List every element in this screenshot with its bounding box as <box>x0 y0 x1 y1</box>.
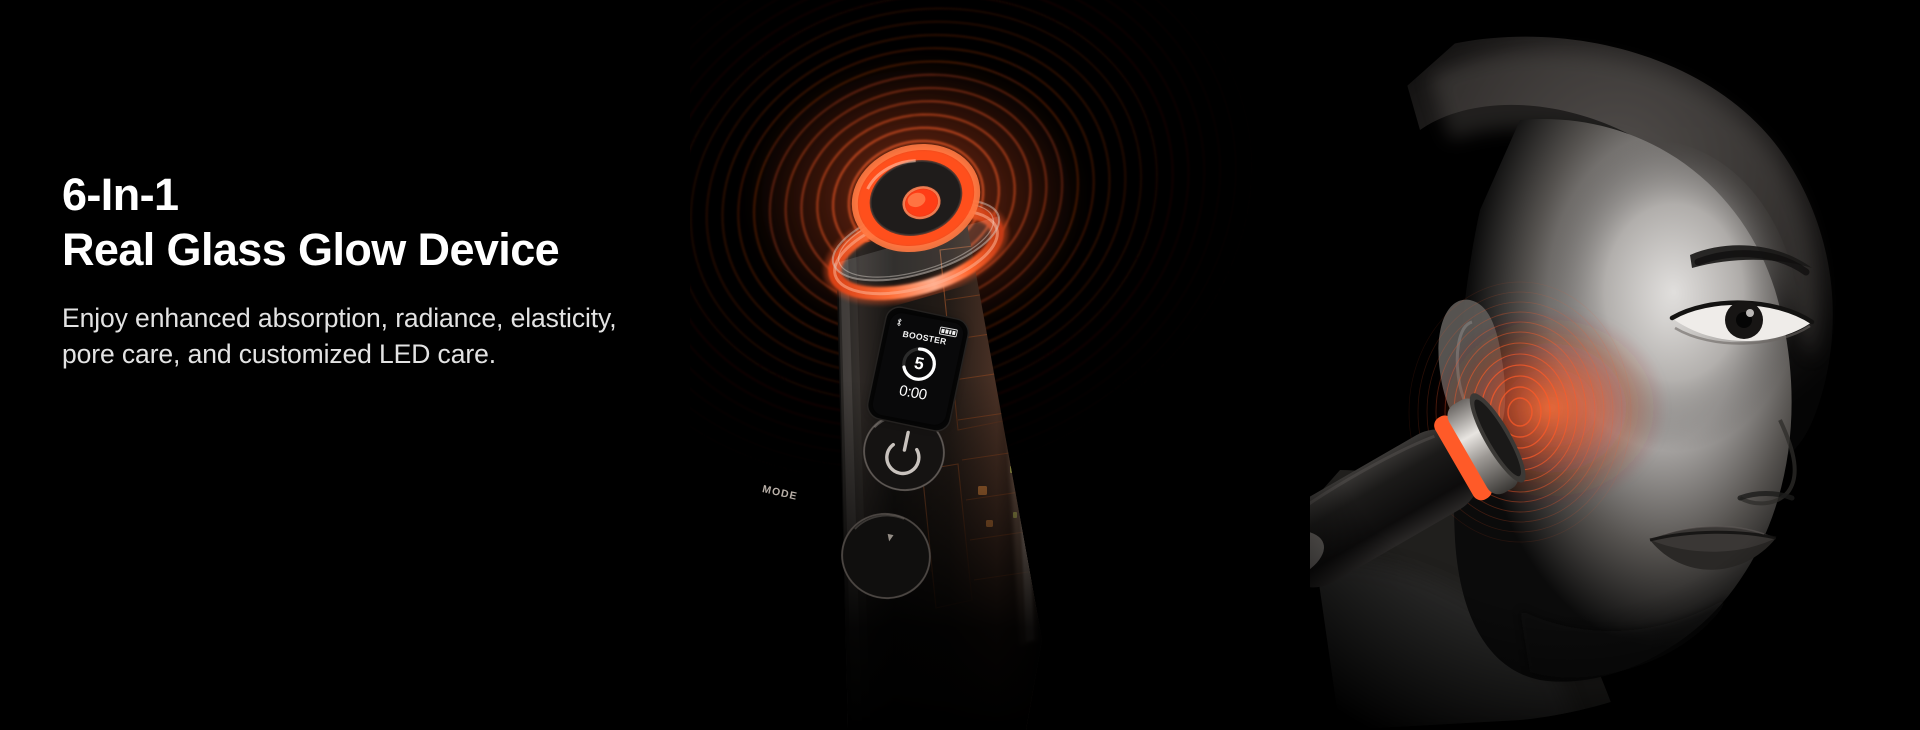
intensity-gauge: 5 <box>896 342 941 386</box>
page-title: 6-In-1 Real Glass Glow Device <box>62 168 822 278</box>
model-illustration <box>1220 0 1920 730</box>
hero-description: Enjoy enhanced absorption, radiance, ela… <box>62 300 822 373</box>
bluetooth-icon <box>895 317 903 327</box>
hero-copy-block: 6-In-1 Real Glass Glow Device Enjoy enha… <box>62 168 822 373</box>
model-photo <box>1220 0 1920 730</box>
product-hero-banner: BOOSTER 5 0:00 MODE 6-In-1 Real Glass Gl… <box>0 0 1920 730</box>
intensity-level: 5 <box>896 342 941 386</box>
